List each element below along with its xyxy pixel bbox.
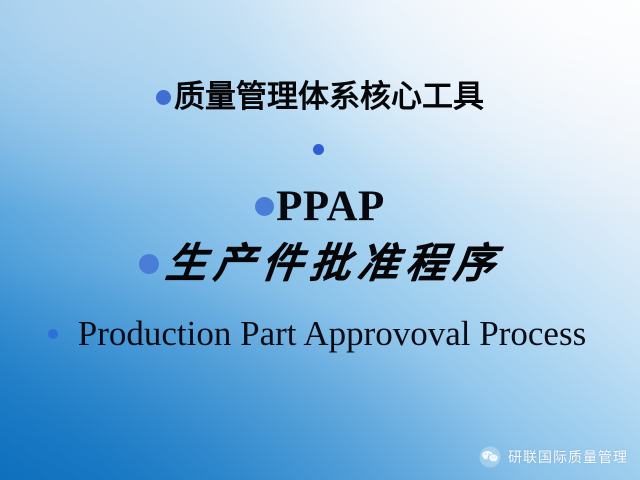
round-bullet-icon	[156, 90, 171, 105]
round-bullet-icon	[48, 329, 58, 339]
slide-line-ppap-text: PPAP	[276, 185, 385, 228]
slide-line-spacer	[0, 144, 640, 155]
wechat-icon	[479, 446, 501, 468]
presentation-slide: 质量管理体系核心工具 PPAP 生产件批准程序 Production Part …	[0, 0, 640, 480]
round-bullet-icon	[313, 144, 324, 155]
slide-line-ppap: PPAP	[0, 185, 640, 228]
slide-line-calligraphy-text: 生产件批准程序	[163, 243, 504, 284]
slide-line-heading-text: 质量管理体系核心工具	[174, 82, 484, 113]
wechat-watermark-label: 研联国际质量管理	[508, 447, 628, 467]
round-bullet-icon	[255, 197, 274, 216]
slide-line-heading: 质量管理体系核心工具	[0, 82, 640, 113]
slide-line-calligraphy: 生产件批准程序	[0, 243, 640, 284]
slide-line-english-text: Production Part Approvoval Process	[78, 316, 586, 351]
slide-line-english: Production Part Approvoval Process	[0, 316, 640, 351]
slide-content: 质量管理体系核心工具 PPAP 生产件批准程序 Production Part …	[0, 0, 640, 480]
round-bullet-icon	[139, 254, 159, 274]
wechat-watermark: 研联国际质量管理	[479, 446, 628, 468]
